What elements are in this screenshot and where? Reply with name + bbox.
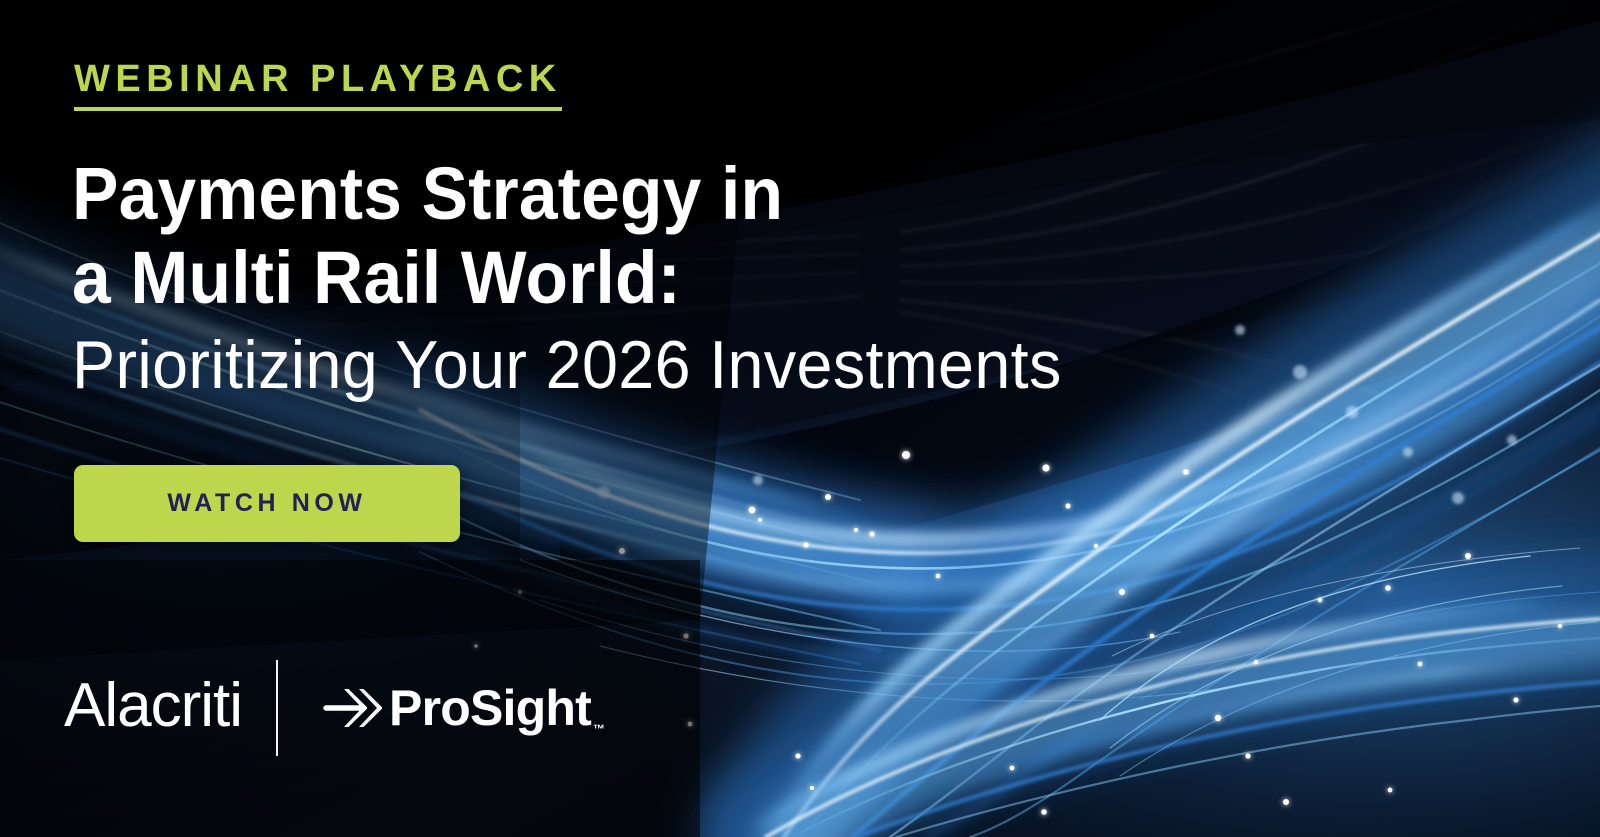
subheadline: Prioritizing Your 2026 Investments: [72, 327, 1062, 403]
headline-line-1: Payments Strategy in: [72, 152, 1200, 236]
prosight-wordmark: ProSight™: [389, 683, 603, 733]
webinar-playback-banner: WEBINAR PLAYBACK Payments Strategy in a …: [0, 0, 1600, 837]
double-chevron-arrow-icon: [322, 685, 384, 731]
trademark-symbol: ™: [593, 722, 605, 736]
alacriti-logo[interactable]: Alacriti: [64, 675, 242, 737]
logo-lockup: Alacriti ProSight™: [64, 655, 603, 760]
headline-line-2: a Multi Rail World:: [72, 236, 1200, 320]
page-title: Payments Strategy in a Multi Rail World:: [72, 152, 1272, 320]
eyebrow-label: WEBINAR PLAYBACK: [74, 60, 562, 111]
prosight-logo[interactable]: ProSight™: [322, 683, 603, 733]
watch-now-button[interactable]: WATCH NOW: [74, 465, 460, 542]
vertical-divider: [276, 660, 278, 756]
prosight-text: ProSight: [389, 680, 591, 736]
